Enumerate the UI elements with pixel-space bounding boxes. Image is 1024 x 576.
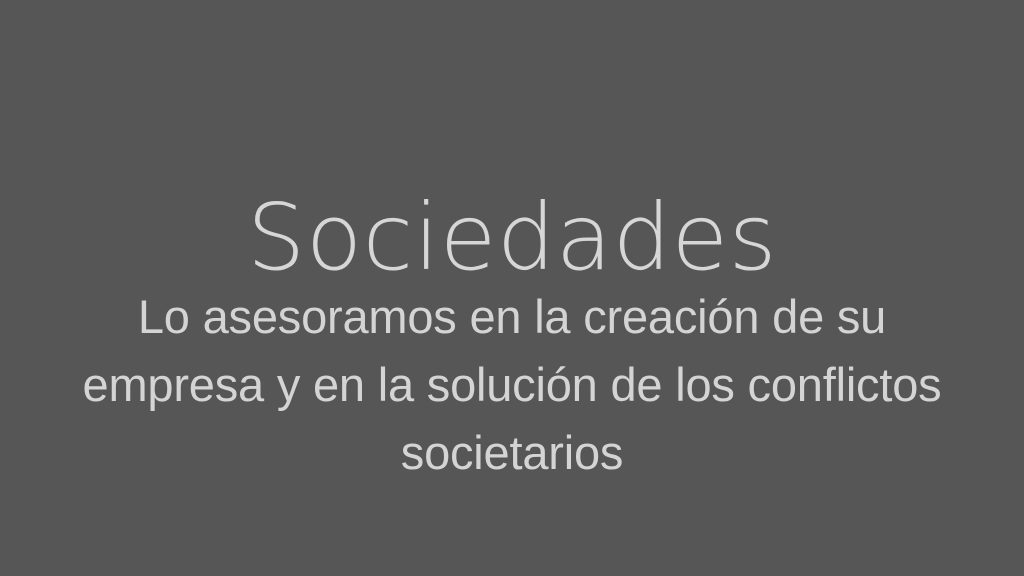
subtitle-line-1: Lo asesoramos en la creación de su [47,283,977,351]
presentation-slide: Sociedades Lo asesoramos en la creación … [0,0,1024,576]
subtitle-line-3: societarios [47,419,977,487]
subtitle-line-2: empresa y en la solución de los conflict… [47,351,977,419]
slide-subtitle: Lo asesoramos en la creación de su empre… [47,283,977,487]
page-title: Sociedades [0,190,1024,287]
